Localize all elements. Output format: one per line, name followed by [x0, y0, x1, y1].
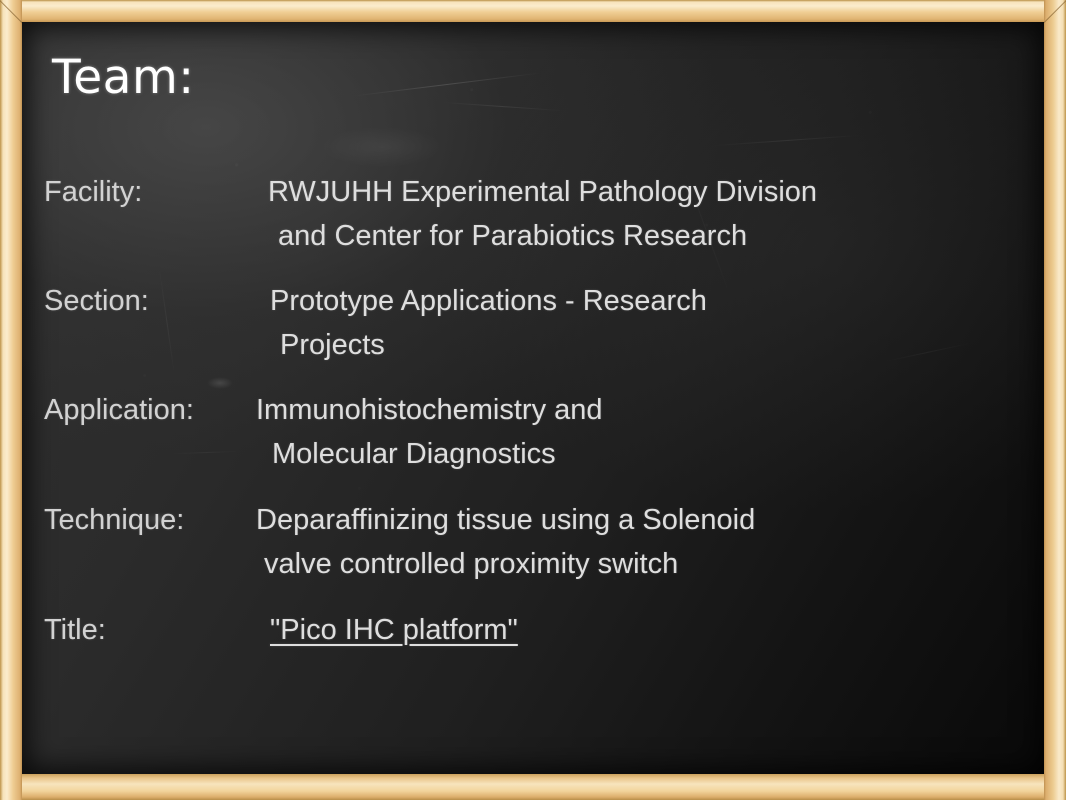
- field-label-facility: Facility:: [44, 170, 256, 214]
- field-value-section: Prototype Applications - Research Projec…: [256, 279, 1026, 367]
- frame-rail-left: [0, 0, 22, 800]
- field-list: Facility: RWJUHH Experimental Pathology …: [44, 170, 1026, 652]
- field-value-technique: Deparaffinizing tissue using a Solenoid …: [256, 498, 1026, 586]
- field-value-title: "Pico IHC platform": [256, 608, 1026, 652]
- field-value-application-line1: Immunohistochemistry and: [256, 388, 1026, 432]
- field-value-technique-line1: Deparaffinizing tissue using a Solenoid: [256, 498, 1026, 542]
- slide-heading: Team:: [52, 50, 195, 105]
- field-label-technique: Technique:: [44, 498, 256, 542]
- field-value-facility: RWJUHH Experimental Pathology Division a…: [256, 170, 1026, 258]
- field-row-title: Title: "Pico IHC platform": [44, 608, 1026, 652]
- field-row-technique: Technique: Deparaffinizing tissue using …: [44, 498, 1026, 586]
- frame-rail-right: [1044, 0, 1066, 800]
- field-value-application: Immunohistochemistry and Molecular Diagn…: [256, 388, 1026, 476]
- field-value-section-line2: Projects: [270, 323, 1026, 367]
- project-title-underlined: "Pico IHC platform": [270, 608, 1026, 652]
- field-row-section: Section: Prototype Applications - Resear…: [44, 279, 1026, 367]
- field-value-section-line1: Prototype Applications - Research: [270, 279, 1026, 323]
- field-value-facility-line1: RWJUHH Experimental Pathology Division: [268, 170, 1026, 214]
- field-row-facility: Facility: RWJUHH Experimental Pathology …: [44, 170, 1026, 258]
- frame-rail-bottom: [0, 774, 1066, 800]
- field-label-section: Section:: [44, 279, 256, 323]
- slide-content: Team: Facility: RWJUHH Experimental Path…: [22, 22, 1044, 774]
- field-label-title: Title:: [44, 608, 256, 652]
- field-value-application-line2: Molecular Diagnostics: [256, 432, 1026, 476]
- frame-rail-top: [0, 0, 1066, 22]
- field-value-technique-line2: valve controlled proximity switch: [256, 542, 1026, 586]
- field-label-application: Application:: [44, 388, 256, 432]
- field-row-application: Application: Immunohistochemistry and Mo…: [44, 388, 1026, 476]
- field-value-facility-line2: and Center for Parabiotics Research: [268, 214, 1026, 258]
- chalkboard-surface: Team: Facility: RWJUHH Experimental Path…: [22, 22, 1044, 774]
- chalkboard-slide: Team: Facility: RWJUHH Experimental Path…: [0, 0, 1066, 800]
